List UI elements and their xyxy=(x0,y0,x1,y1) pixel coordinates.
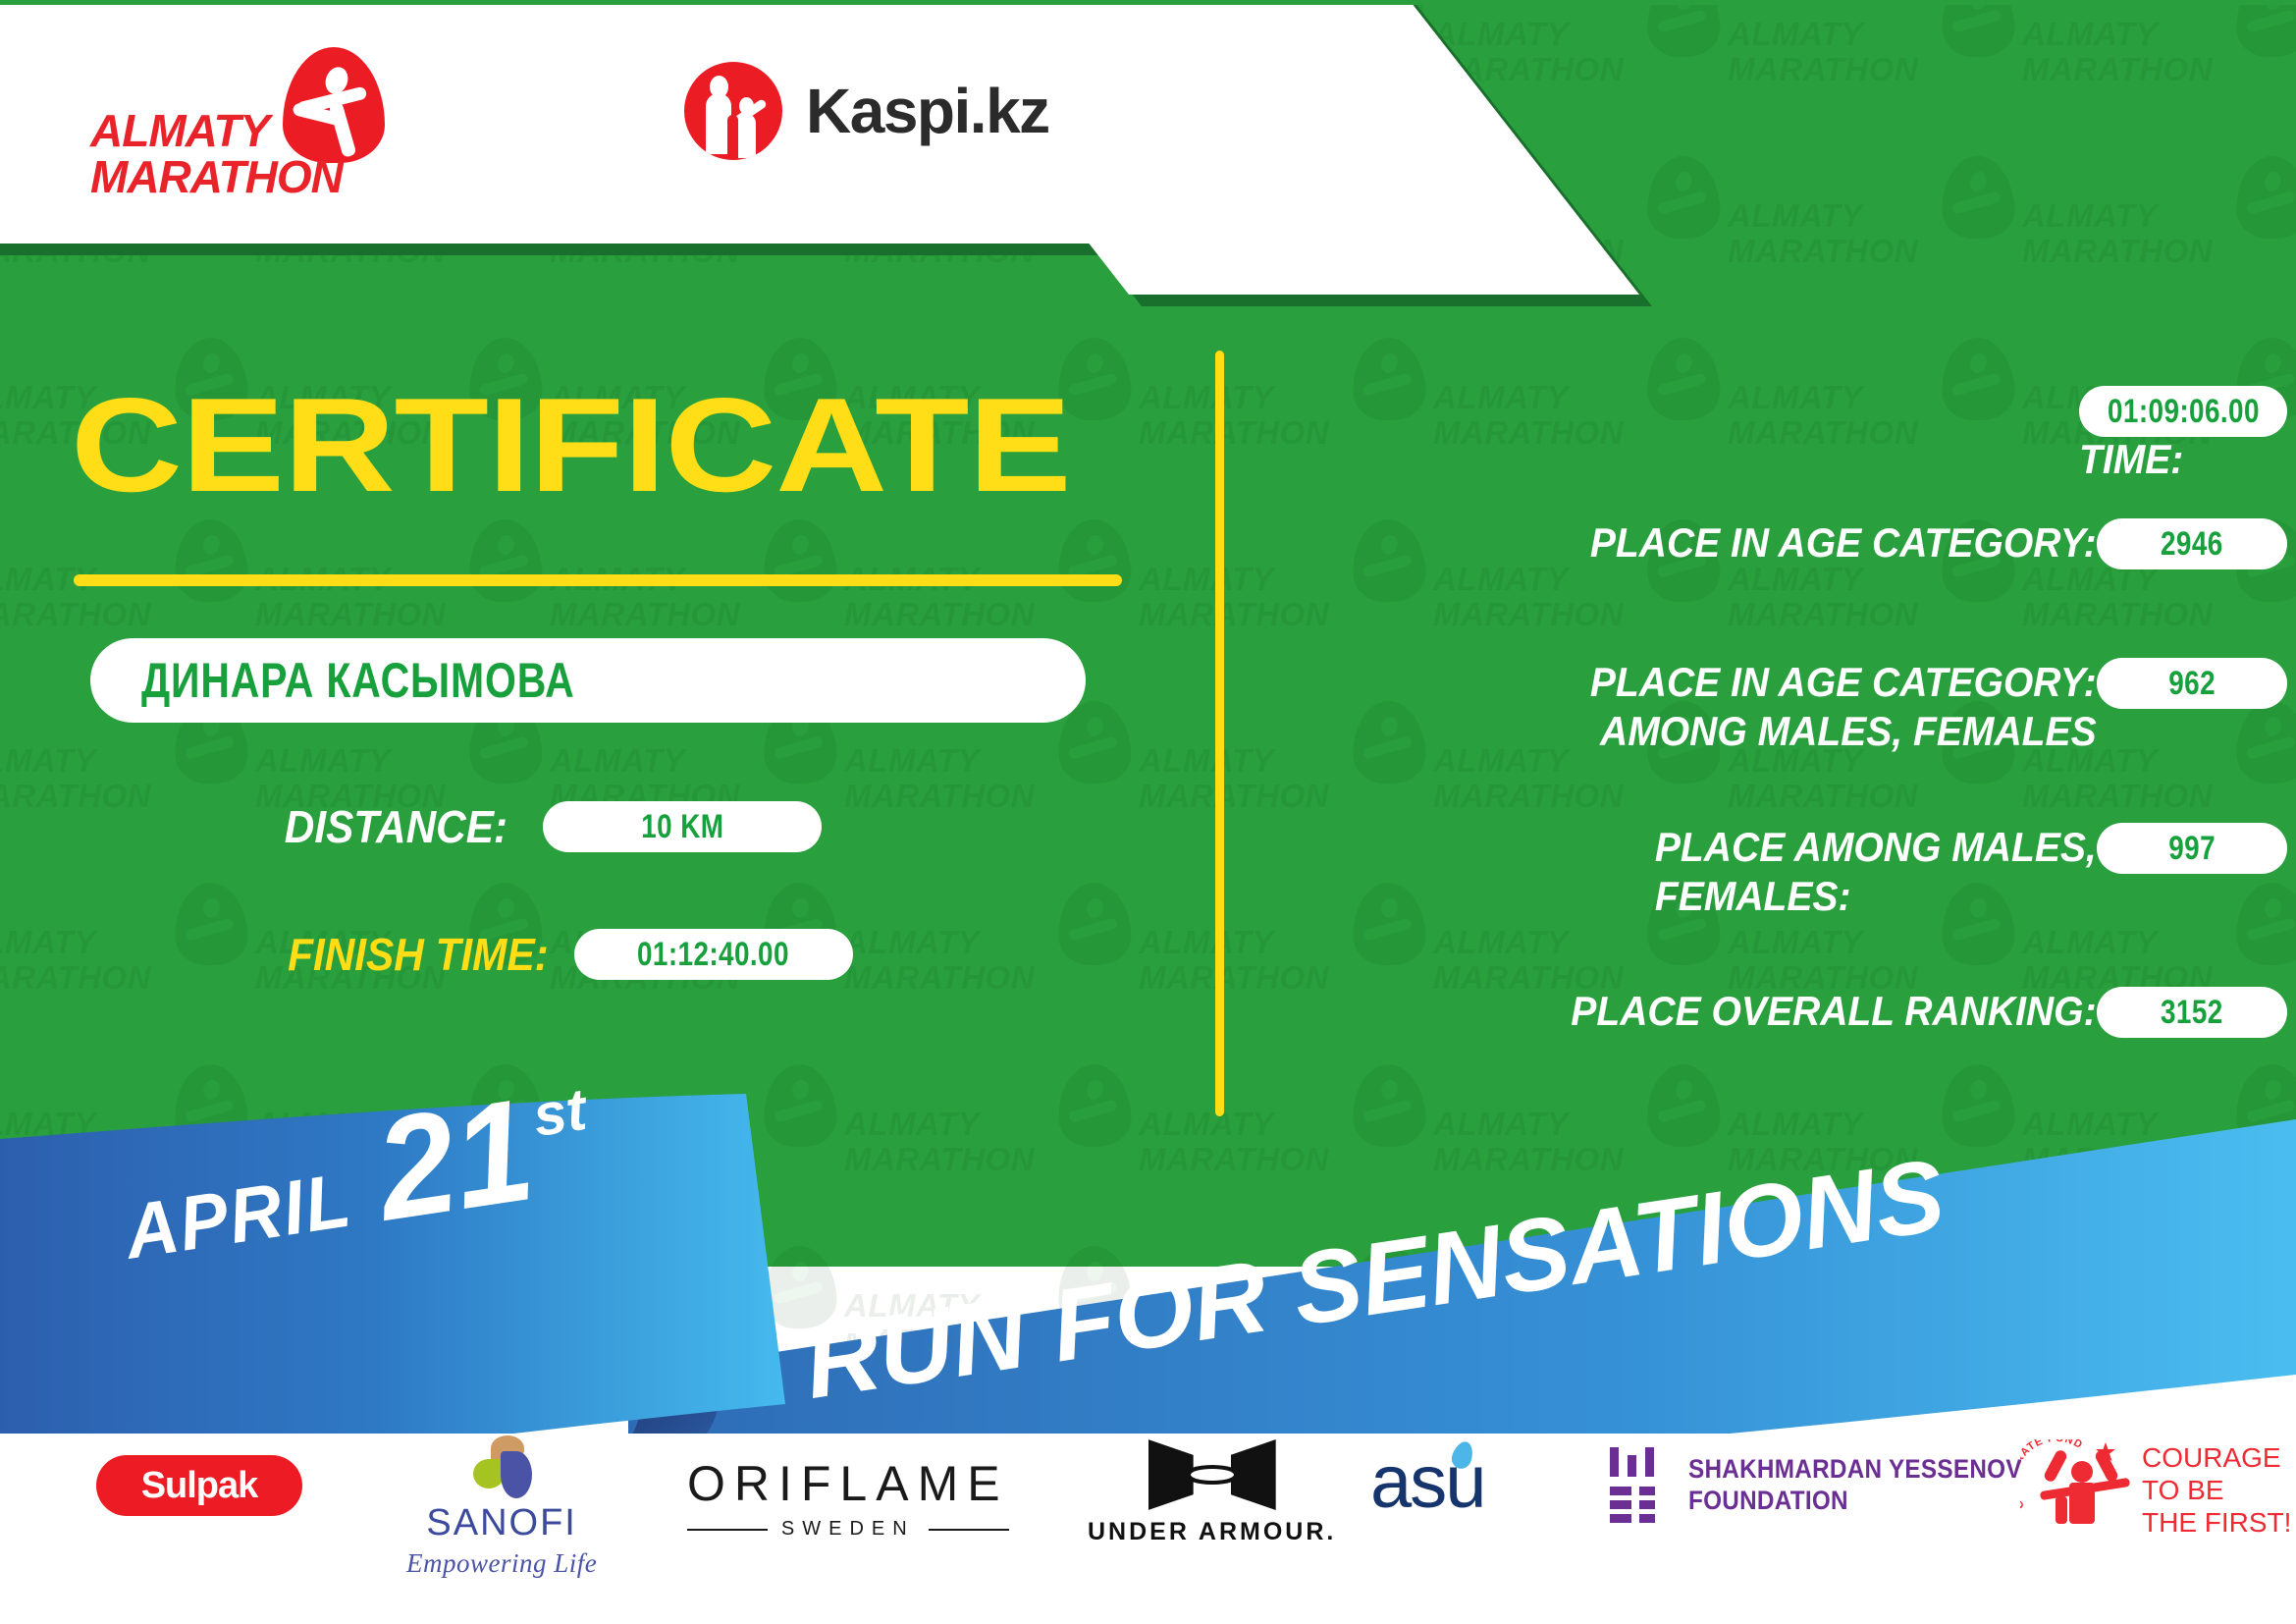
asu-logo: asu xyxy=(1370,1445,1485,1520)
watermark-tile: ALMATYMARATHON xyxy=(0,879,255,1060)
sanofi-tagline: Empowering Life xyxy=(406,1548,597,1579)
watermark-teardrop-icon xyxy=(174,518,249,604)
watermark-line2: MARATHON xyxy=(255,596,446,633)
sanofi-wordmark: SANOFI xyxy=(426,1502,576,1544)
place-age-category-gender-row: PLACE IN AGE CATEGORY: AMONG MALES, FEMA… xyxy=(1306,658,2287,755)
distance-value-pill: 10 KM xyxy=(543,801,822,852)
watermark-teardrop-icon xyxy=(1646,0,1722,58)
sponsor-under-armour: UNDER ARMOUR. xyxy=(1088,1439,1336,1546)
place-among-gender-label: PLACE AMONG MALES, FEMALES: xyxy=(1655,823,2097,920)
place-age-category-gender-label: PLACE IN AGE CATEGORY: AMONG MALES, FEMA… xyxy=(1590,658,2097,755)
watermark-teardrop-icon xyxy=(468,518,544,604)
finish-time-value-pill: 01:12:40.00 xyxy=(574,929,853,980)
place-age-category-row: PLACE IN AGE CATEGORY: 2946 xyxy=(1306,518,2287,569)
watermark-line2: MARATHON xyxy=(2022,233,2213,270)
almaty-logo-line1: ALMATY xyxy=(90,104,269,157)
chip-time-value: 01:09:06.00 xyxy=(2108,393,2260,431)
kaspi-people-circle-icon xyxy=(684,62,782,160)
sanofi-icon xyxy=(469,1435,534,1496)
courage-line3: THE FIRST! xyxy=(2142,1506,2291,1539)
watermark-teardrop-icon xyxy=(1646,155,1722,241)
watermark-line1: ALMATY xyxy=(0,742,96,780)
watermark-tile: ALMATYMARATHON xyxy=(0,697,255,879)
place-age-category-value-pill: 2946 xyxy=(2097,518,2287,569)
courage-leg xyxy=(2056,1496,2067,1524)
place-age-category-label: PLACE IN AGE CATEGORY: xyxy=(1590,518,2097,568)
watermark-line2: MARATHON xyxy=(550,596,740,633)
watermark-line1: ALMATY xyxy=(0,924,96,961)
watermark-tile: ALMATYMARATHON xyxy=(1728,152,2022,334)
finish-time-value: 01:12:40.00 xyxy=(637,936,789,974)
watermark-line1: ALMATY xyxy=(1728,197,1863,235)
courage-line1: COURAGE xyxy=(2142,1441,2291,1474)
watermark-teardrop-icon xyxy=(1057,518,1133,604)
sponsor-courage-fund: CORPORATE FUND COURAGE TO BE THE FIRST! xyxy=(2040,1441,2291,1539)
courage-head xyxy=(2071,1461,2093,1483)
yessenov-bar-7 xyxy=(1639,1500,1655,1509)
distance-row: DISTANCE: 10 KM xyxy=(265,800,822,853)
watermark-line1: ALMATY xyxy=(1139,379,1274,416)
yessenov-line2: FOUNDATION xyxy=(1688,1485,2022,1516)
watermark-tile: ALMATYMARATHON xyxy=(844,879,1139,1060)
under-armour-icon xyxy=(1148,1439,1276,1510)
courage-runner-icon: CORPORATE FUND xyxy=(2040,1441,2130,1526)
ribbon-month: APRIL xyxy=(120,1155,358,1276)
under-armour-wordmark: UNDER ARMOUR. xyxy=(1088,1518,1336,1546)
almaty-marathon-logo: ALMATY MARATHON xyxy=(90,47,424,185)
kaspi-wordmark: Kaspi.kz xyxy=(806,75,1049,147)
yessenov-bar-6 xyxy=(1610,1500,1631,1509)
vertical-divider xyxy=(1215,351,1224,1116)
watermark-line2: MARATHON xyxy=(1728,51,1918,88)
place-overall-ranking-row: PLACE OVERALL RANKING: 3152 xyxy=(1306,987,2287,1038)
ribbon-ordinal: st xyxy=(529,1075,591,1150)
watermark-tile: ALMATYMARATHON xyxy=(2022,152,2296,334)
oriflame-subtitle: SWEDEN xyxy=(781,1518,915,1541)
watermark-line2: MARATHON xyxy=(1139,959,1329,997)
yessenov-bar-5 xyxy=(1639,1487,1655,1495)
watermark-line2: MARATHON xyxy=(0,778,151,815)
watermark-line2: MARATHON xyxy=(1139,414,1329,452)
watermark-teardrop-icon xyxy=(1941,0,2016,58)
place-among-gender-value: 997 xyxy=(2168,830,2216,868)
kaspi-logo: Kaspi.kz xyxy=(684,57,1049,165)
yessenov-bar-2 xyxy=(1628,1455,1636,1477)
watermark-teardrop-icon xyxy=(763,518,838,604)
place-overall-ranking-label: PLACE OVERALL RANKING: xyxy=(1572,987,2097,1036)
watermark-line2: MARATHON xyxy=(844,959,1035,997)
sponsor-sanofi: SANOFI Empowering Life xyxy=(406,1435,597,1579)
watermark-line2: MARATHON xyxy=(0,596,151,633)
sponsor-asu: asu xyxy=(1370,1445,1485,1520)
watermark-line2: MARATHON xyxy=(2022,596,2213,633)
yessenov-bar-3 xyxy=(1645,1447,1654,1477)
yessenov-bar-4 xyxy=(1610,1487,1631,1495)
sponsor-sulpak: Sulpak xyxy=(96,1455,302,1516)
yessenov-bar-1 xyxy=(1610,1447,1619,1477)
sponsor-yessenov-foundation: SHAKHMARDAN YESSENOV FOUNDATION xyxy=(1610,1447,2059,1522)
ribbon-day: 21 xyxy=(370,1092,539,1229)
watermark-tile: ALMATYMARATHON xyxy=(2022,0,2296,152)
courage-line2: TO BE xyxy=(2142,1474,2291,1506)
ua-center-hole xyxy=(1191,1469,1234,1481)
watermark-teardrop-icon xyxy=(1057,882,1133,967)
finish-time-label: FINISH TIME: xyxy=(288,928,549,981)
kaspi-child-body xyxy=(735,113,756,158)
oriflame-rule-left xyxy=(687,1529,768,1531)
watermark-line2: MARATHON xyxy=(1139,596,1329,633)
oriflame-sub-row: SWEDEN xyxy=(687,1518,1009,1541)
place-overall-ranking-value-pill: 3152 xyxy=(2097,987,2287,1038)
place-among-gender-value-pill: 997 xyxy=(2097,823,2287,874)
watermark-line2: MARATHON xyxy=(0,959,151,997)
watermark-line2: MARATHON xyxy=(844,596,1035,633)
place-among-gender-row: PLACE AMONG MALES, FEMALES: 997 xyxy=(1306,823,2287,920)
watermark-line2: MARATHON xyxy=(1728,778,1918,815)
yessenov-wordmark: SHAKHMARDAN YESSENOV FOUNDATION xyxy=(1688,1453,2059,1517)
watermark-line2: MARATHON xyxy=(1728,596,1918,633)
certificate-title: CERTIFICATE xyxy=(71,378,1070,512)
watermark-line2: MARATHON xyxy=(844,778,1035,815)
yessenov-bars-icon xyxy=(1610,1447,1667,1522)
watermark-line1: ALMATY xyxy=(550,742,685,780)
place-age-category-gender-value-pill: 962 xyxy=(2097,658,2287,709)
watermark-line1: ALMATY xyxy=(1139,924,1274,961)
watermark-tile: ALMATYMARATHON xyxy=(844,697,1139,879)
sulpak-wordmark: Sulpak xyxy=(141,1465,258,1507)
watermark-line1: ALMATY xyxy=(1728,924,1863,961)
title-underline-rule xyxy=(74,574,1122,586)
watermark-line2: MARATHON xyxy=(1139,778,1329,815)
watermark-line2: MARATHON xyxy=(1433,596,1624,633)
watermark-tile: ALMATYMARATHON xyxy=(1728,0,2022,152)
sanofi-purple-shape xyxy=(501,1451,532,1498)
watermark-line1: ALMATY xyxy=(1728,16,1863,53)
watermark-line2: MARATHON xyxy=(2022,778,2213,815)
courage-star-icon xyxy=(2095,1441,2116,1463)
courage-slogan: COURAGE TO BE THE FIRST! xyxy=(2142,1441,2291,1539)
oriflame-rule-right xyxy=(929,1529,1009,1531)
watermark-teardrop-icon xyxy=(174,882,249,967)
place-age-category-gender-value: 962 xyxy=(2168,665,2216,703)
watermark-line1: ALMATY xyxy=(2022,197,2158,235)
watermark-teardrop-icon xyxy=(1941,155,2016,241)
participant-name-field: ДИНАРА КАСЫМОВА xyxy=(90,638,1086,723)
watermark-line1: ALMATY xyxy=(844,742,980,780)
watermark-line2: MARATHON xyxy=(2022,51,2213,88)
sponsor-oriflame: ORIFLAME SWEDEN xyxy=(687,1455,1009,1541)
chip-time-value-pill: 01:09:06.00 xyxy=(2079,386,2287,437)
watermark-line1: ALMATY xyxy=(1433,924,1569,961)
certificate-page: ALMATYMARATHONALMATYMARATHONALMATYMARATH… xyxy=(0,0,2296,1624)
watermark-line1: ALMATY xyxy=(2022,924,2158,961)
yessenov-bar-8 xyxy=(1610,1514,1631,1523)
finish-time-row: FINISH TIME: 01:12:40.00 xyxy=(265,928,853,981)
watermark-line1: ALMATY xyxy=(1139,561,1274,598)
almaty-logo-line2: MARATHON xyxy=(90,150,343,203)
distance-label: DISTANCE: xyxy=(285,800,507,853)
distance-value: 10 KM xyxy=(641,808,723,846)
oriflame-wordmark: ORIFLAME xyxy=(687,1455,1009,1512)
watermark-line1: ALMATY xyxy=(1433,16,1569,53)
watermark-teardrop-icon xyxy=(2235,155,2296,241)
watermark-line1: ALMATY xyxy=(255,742,391,780)
watermark-line1: ALMATY xyxy=(2022,16,2158,53)
watermark-teardrop-icon xyxy=(2235,0,2296,58)
watermark-line2: MARATHON xyxy=(1728,233,1918,270)
watermark-line1: ALMATY xyxy=(1139,742,1274,780)
top-green-strip xyxy=(0,0,2296,5)
sulpak-logo: Sulpak xyxy=(96,1455,302,1516)
participant-name-value: ДИНАРА КАСЫМОВА xyxy=(141,652,575,709)
watermark-line2: MARATHON xyxy=(1433,778,1624,815)
place-overall-ranking-value: 3152 xyxy=(2161,994,2223,1032)
chip-time-row: CHIP TIME: 01:09:06.00 xyxy=(1306,386,2287,483)
yessenov-bar-9 xyxy=(1639,1514,1655,1523)
yessenov-line1: SHAKHMARDAN YESSENOV xyxy=(1688,1453,2022,1485)
runner-teardrop-icon xyxy=(283,47,385,163)
place-age-category-value: 2946 xyxy=(2161,525,2223,564)
kaspi-gap xyxy=(727,115,738,158)
watermark-line1: ALMATY xyxy=(844,924,980,961)
